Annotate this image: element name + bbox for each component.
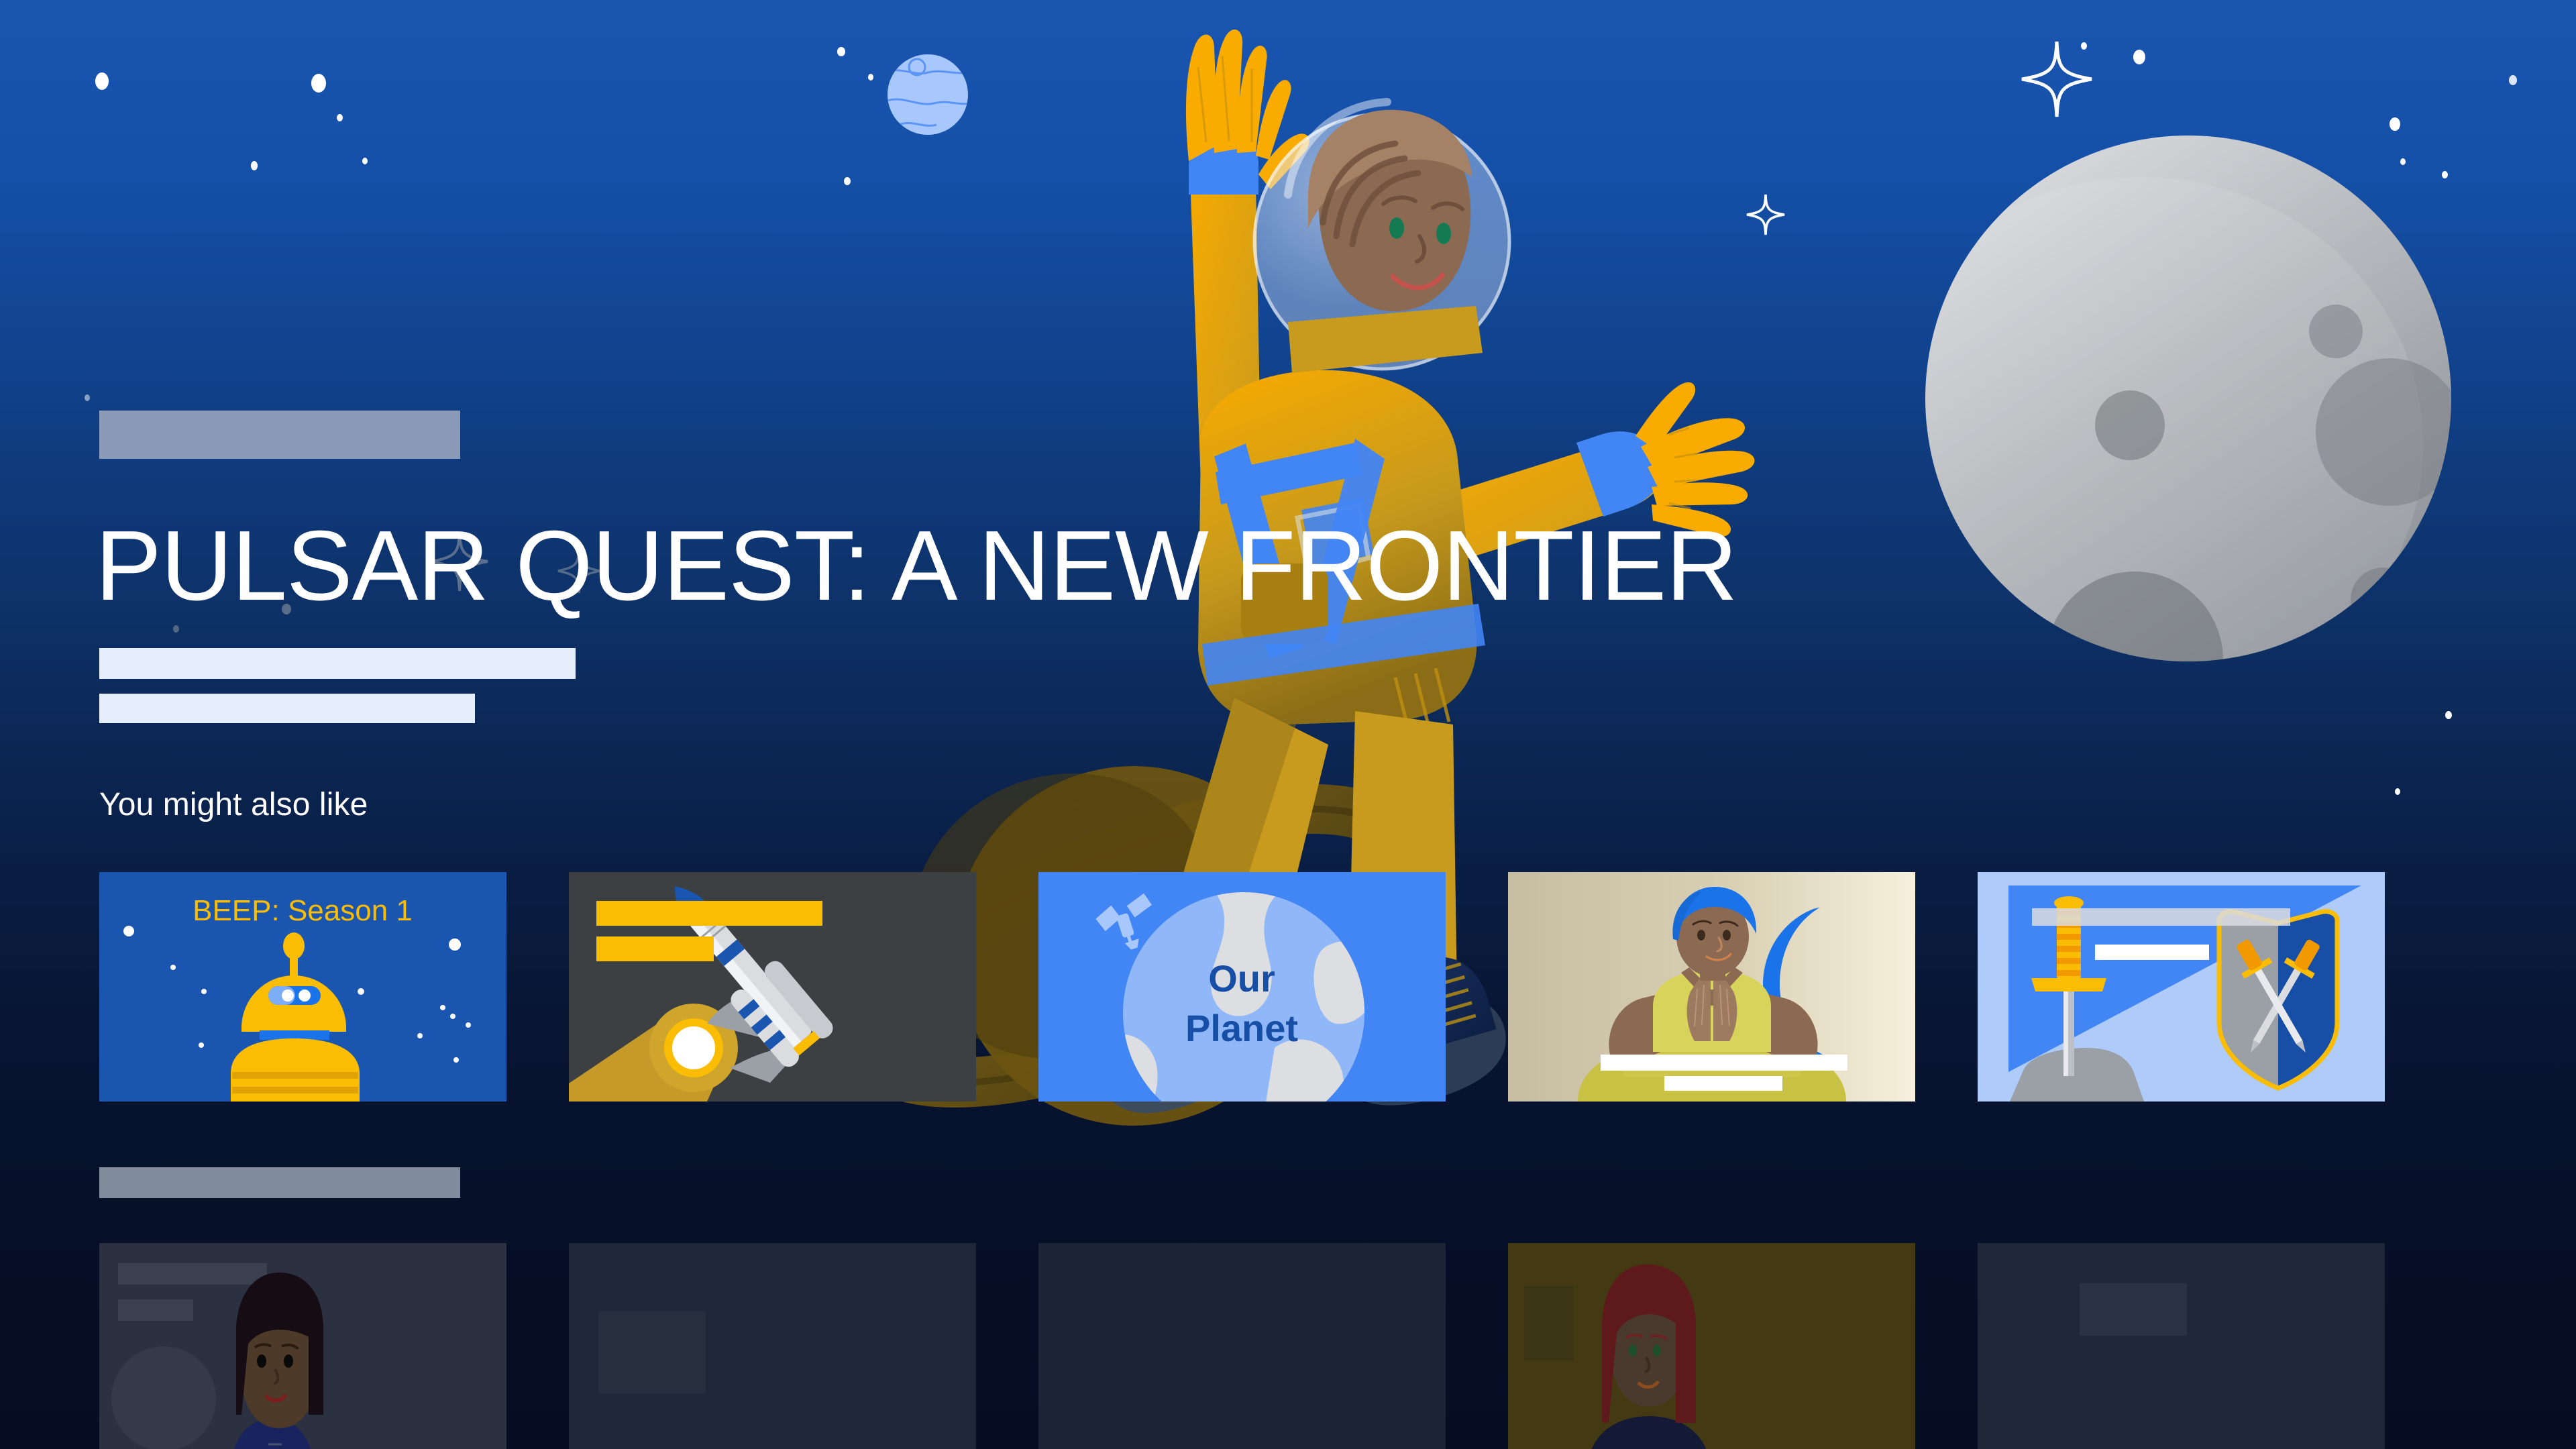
card-placeholder-bar xyxy=(2080,1283,2187,1336)
star xyxy=(844,177,851,185)
star xyxy=(251,161,258,170)
row-label-recommendations: You might also like xyxy=(99,786,368,823)
card-placeholder-bar xyxy=(1664,1076,1782,1091)
star xyxy=(868,74,873,80)
star xyxy=(2445,711,2452,719)
card-sword-quest[interactable] xyxy=(1978,872,2385,1102)
row-2-placeholder-label xyxy=(99,1167,460,1198)
card-title-text: Our xyxy=(1208,957,1275,1000)
page-title: PULSAR QUEST: A NEW FRONTIER xyxy=(95,517,1737,616)
star xyxy=(362,158,368,164)
hero-placeholder-line-2 xyxy=(99,694,475,723)
card-placeholder-bar xyxy=(598,1311,706,1393)
moon xyxy=(1920,130,2457,667)
woman-portrait-illustration xyxy=(99,1243,506,1449)
card-placeholder-bar xyxy=(1524,1286,1574,1361)
robot-illustration: BEEP: Season 1 xyxy=(99,872,506,1102)
blank-card-art xyxy=(569,1243,976,1449)
card-placeholder-a[interactable] xyxy=(569,1243,976,1449)
star xyxy=(2390,117,2400,131)
card-placeholder-bar xyxy=(2032,908,2290,926)
card-woman-dark-hair[interactable] xyxy=(99,1243,506,1449)
card-placeholder-bar xyxy=(596,901,822,926)
sparkle-star-icon xyxy=(2019,39,2094,119)
star xyxy=(337,114,343,121)
card-placeholder-c[interactable] xyxy=(1978,1243,2385,1449)
woman-red-hair-illustration xyxy=(1508,1243,1915,1449)
card-placeholder-bar xyxy=(118,1299,193,1321)
card-title-text: BEEP: Season 1 xyxy=(193,894,413,927)
blank-card-art xyxy=(1978,1243,2385,1449)
star xyxy=(2509,75,2517,85)
star xyxy=(2395,788,2400,795)
star xyxy=(311,74,326,93)
card-meditation[interactable] xyxy=(1508,872,1915,1102)
hero-text-block: PULSAR QUEST: A NEW FRONTIER xyxy=(99,411,1737,723)
card-woman-red-hair[interactable] xyxy=(1508,1243,1915,1449)
card-beep-season-1[interactable]: BEEP: Season 1 xyxy=(99,872,506,1102)
meditation-illustration xyxy=(1508,872,1915,1102)
hero-placeholder-top xyxy=(99,411,460,459)
star xyxy=(85,394,90,401)
hero-scene: PULSAR QUEST: A NEW FRONTIER You might a… xyxy=(0,0,2576,1449)
card-placeholder-b[interactable] xyxy=(1038,1243,1446,1449)
card-our-planet[interactable]: Our Planet xyxy=(1038,872,1446,1102)
rocket-illustration xyxy=(569,872,976,1102)
hero-placeholder-line-1 xyxy=(99,648,576,679)
star xyxy=(837,47,845,56)
card-placeholder-bar xyxy=(1601,1055,1847,1071)
card-placeholder-bar xyxy=(596,936,714,961)
blank-card-art xyxy=(1038,1243,1446,1449)
recommendation-row-1: BEEP: Season 1 xyxy=(99,872,2385,1102)
recommendation-row-2 xyxy=(99,1243,2385,1449)
card-placeholder-bar xyxy=(2095,945,2209,960)
card-title-text: Planet xyxy=(1185,1007,1298,1049)
globe-illustration: Our Planet xyxy=(1038,872,1446,1102)
sword-shield-illustration xyxy=(1978,872,2385,1102)
star xyxy=(2133,50,2145,64)
card-rocket-launch[interactable] xyxy=(569,872,976,1102)
star xyxy=(95,72,109,90)
card-placeholder-bar xyxy=(118,1263,267,1285)
